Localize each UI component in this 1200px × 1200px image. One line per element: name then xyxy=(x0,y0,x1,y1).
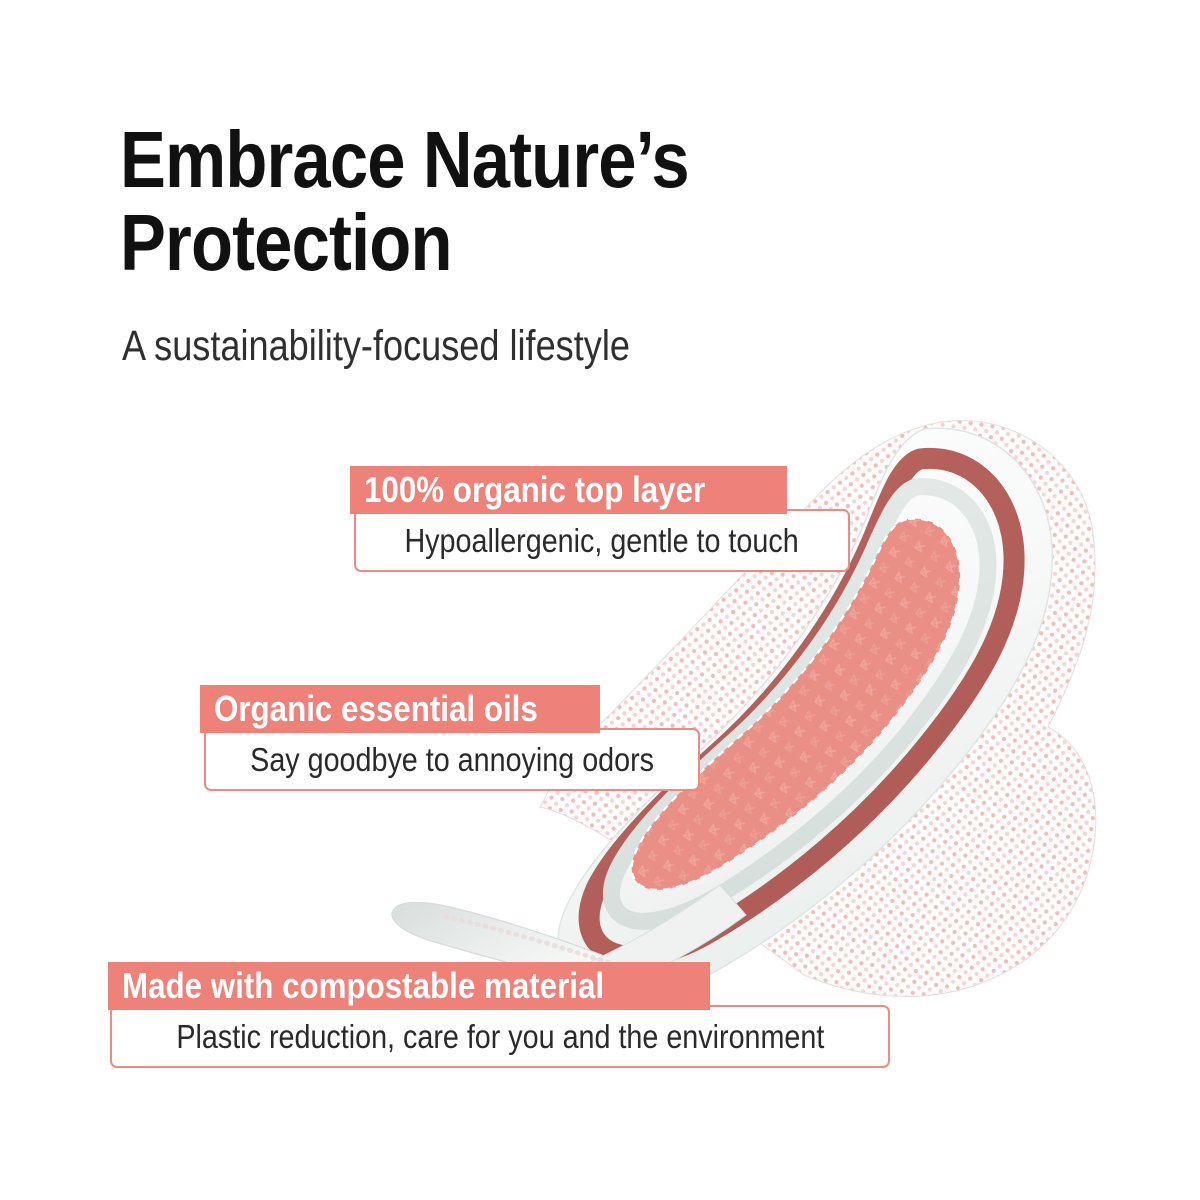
callout-3-title-bar: Made with compostable material xyxy=(108,962,710,1010)
callout-1-description-box: Hypoallergenic, gentle to touch xyxy=(354,509,850,572)
callout-2-title-bar: Organic essential oils xyxy=(200,685,600,733)
callout-3-title: Made with compostable material xyxy=(122,965,604,1007)
callout-2-description: Say goodbye to annoying odors xyxy=(250,741,654,779)
page-subtitle: A sustainability-focused lifestyle xyxy=(122,322,630,370)
callout-1-description: Hypoallergenic, gentle to touch xyxy=(405,522,799,560)
callout-3-description-box: Plastic reduction, care for you and the … xyxy=(110,1005,890,1068)
callout-1-title-bar: 100% organic top layer xyxy=(350,466,787,514)
infographic-page: Embrace Nature’s Protection A sustainabi… xyxy=(0,0,1200,1200)
callout-2-description-box: Say goodbye to annoying odors xyxy=(204,728,700,791)
page-title: Embrace Nature’s Protection xyxy=(120,118,825,284)
callout-1-title: 100% organic top layer xyxy=(364,469,705,511)
callout-2-title: Organic essential oils xyxy=(214,688,538,730)
callout-3-description: Plastic reduction, care for you and the … xyxy=(176,1018,824,1056)
